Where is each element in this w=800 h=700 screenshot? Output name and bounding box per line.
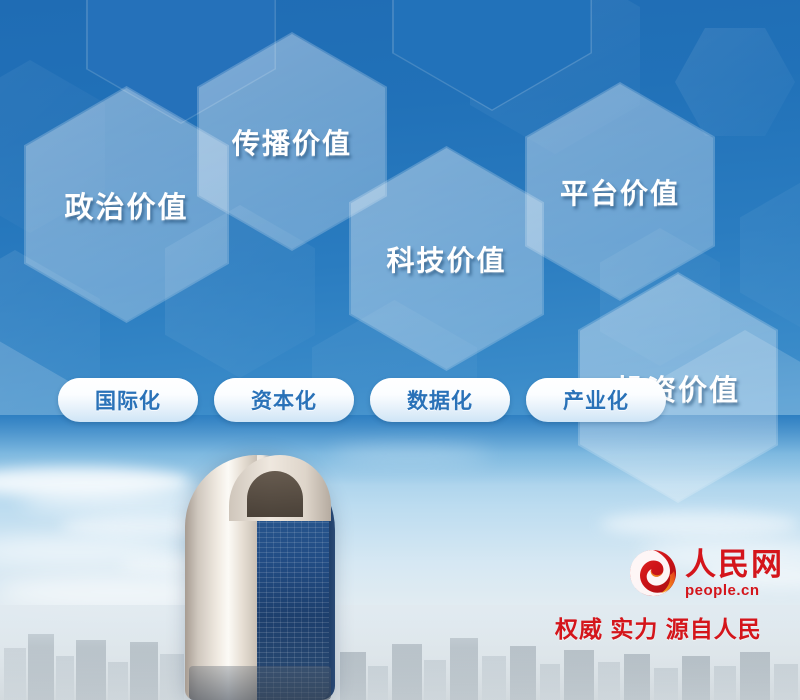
brand-tagline: 权威 实力 源自人民 <box>555 610 788 644</box>
pill-capitalization[interactable]: 资本化 <box>214 378 354 422</box>
cloud <box>330 445 490 463</box>
logo-wordmark: 人民网 people.cn <box>685 549 784 598</box>
value-hexagon-label: 政治价值 <box>64 184 188 226</box>
people-cn-swirl-icon <box>628 548 678 598</box>
cloud <box>600 511 800 537</box>
value-hexagon-platform[interactable]: 平台价值 <box>525 82 715 301</box>
keyword-pill-row: 国际化 资本化 数据化 产业化 <box>58 378 666 422</box>
pill-label: 资本化 <box>251 385 317 415</box>
value-hexagon-label: 平台价值 <box>560 172 680 212</box>
tower-base <box>189 666 331 700</box>
peoples-daily-tower <box>185 455 335 700</box>
value-hexagon-label: 科技价值 <box>386 239 506 279</box>
brand-name-en: people.cn <box>685 583 784 598</box>
brand-block: 人民网 people.cn 权威 实力 源自人民 <box>628 548 788 644</box>
poster-canvas: 政治价值 传播价值 科技价值 平台价值 投资价值 国际化 资本化 数据 <box>0 0 800 700</box>
pill-internationalization[interactable]: 国际化 <box>58 378 198 422</box>
value-hexagon-label: 传播价值 <box>232 122 352 162</box>
pill-label: 国际化 <box>95 385 161 415</box>
pill-label: 产业化 <box>563 385 629 415</box>
value-hexagon-technology[interactable]: 科技价值 <box>349 146 544 371</box>
pill-industrialization[interactable]: 产业化 <box>526 378 666 422</box>
logo-row: 人民网 people.cn <box>628 548 788 598</box>
pill-datafication[interactable]: 数据化 <box>370 378 510 422</box>
brand-name-cn: 人民网 <box>685 549 784 580</box>
pill-label: 数据化 <box>407 385 473 415</box>
